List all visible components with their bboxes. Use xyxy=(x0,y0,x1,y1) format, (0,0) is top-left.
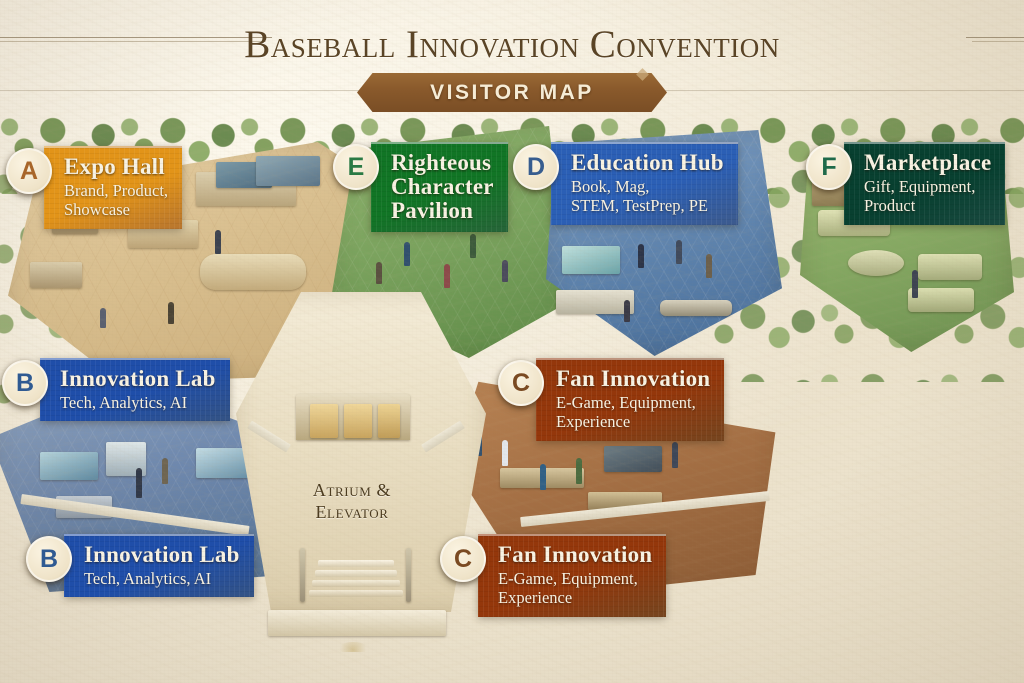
ribbon-rule-right xyxy=(636,90,1024,91)
visitor-figure xyxy=(912,270,918,298)
visitor-figure xyxy=(376,262,382,284)
visitor-figure xyxy=(136,468,142,498)
map-label-card: Righteous Character Pavilion xyxy=(371,142,508,232)
lab-display-screen xyxy=(40,452,98,480)
visitor-figure xyxy=(624,300,630,322)
expo-kiosk xyxy=(30,262,82,288)
map-label-subtitle: E-Game, Equipment, Experience xyxy=(556,393,710,432)
visitor-figure xyxy=(162,458,168,484)
visitor-figure xyxy=(676,240,682,264)
map-label-subtitle: E-Game, Equipment, Experience xyxy=(498,569,652,608)
education-treadmill xyxy=(660,300,732,316)
visitor-figure xyxy=(638,244,644,268)
map-badge-b-icon: B xyxy=(2,360,48,406)
atrium-elevator-label: Atrium & Elevator xyxy=(282,480,422,523)
map-label-name: Marketplace xyxy=(864,151,991,175)
map-badge-b-icon: B xyxy=(26,536,72,582)
visitor-figure xyxy=(215,230,221,254)
map-label-name: Expo Hall xyxy=(64,155,168,179)
ribbon-rule-left xyxy=(0,90,392,91)
atrium-lower-landing xyxy=(268,610,446,636)
map-header: Baseball Innovation Convention VISITOR M… xyxy=(0,0,1024,118)
atrium-stair-tread xyxy=(312,580,400,587)
fan-display-screen xyxy=(604,446,662,472)
map-label-name: Education Hub xyxy=(571,151,724,175)
map-label-card: MarketplaceGift, Equipment, Product xyxy=(844,142,1005,225)
map-label-fan-innovation[interactable]: CFan InnovationE-Game, Equipment, Experi… xyxy=(440,534,666,617)
visitor-figure xyxy=(168,302,174,324)
visitor-figure xyxy=(672,442,678,468)
map-label-card: Innovation LabTech, Analytics, AI xyxy=(64,534,254,597)
map-label-name: Innovation Lab xyxy=(84,543,240,567)
map-label-card: Expo HallBrand, Product, Showcase xyxy=(44,146,182,229)
visitor-figure xyxy=(502,260,508,282)
map-label-card: Fan InnovationE-Game, Equipment, Experie… xyxy=(478,534,666,617)
map-label-card: Innovation LabTech, Analytics, AI xyxy=(40,358,230,421)
visitor-figure xyxy=(470,234,476,258)
map-label-innovation-lab[interactable]: BInnovation LabTech, Analytics, AI xyxy=(2,358,230,421)
marketplace-sofa xyxy=(918,254,982,280)
map-label-card: Fan InnovationE-Game, Equipment, Experie… xyxy=(536,358,724,441)
visitor-figure xyxy=(404,242,410,266)
atrium-stair-tread xyxy=(318,560,394,567)
expo-display-screen xyxy=(256,156,320,186)
map-label-innovation-lab[interactable]: BInnovation LabTech, Analytics, AI xyxy=(26,534,254,597)
visitor-figure xyxy=(540,464,546,490)
map-label-subtitle: Book, Mag, STEM, TestPrep, PE xyxy=(571,177,724,216)
atrium-stair-tread xyxy=(309,590,403,597)
map-label-education-hub[interactable]: DEducation HubBook, Mag, STEM, TestPrep,… xyxy=(513,142,738,225)
atrium-stair-railing xyxy=(406,548,411,602)
map-label-subtitle: Brand, Product, Showcase xyxy=(64,181,168,220)
map-badge-c-icon: C xyxy=(498,360,544,406)
map-label-righteous-character-pavilion[interactable]: ERighteous Character Pavilion xyxy=(333,142,508,232)
education-bench xyxy=(556,290,634,314)
elevator-door xyxy=(344,404,372,438)
map-badge-a-icon: A xyxy=(6,148,52,194)
map-label-subtitle: Tech, Analytics, AI xyxy=(60,393,216,412)
map-label-name: Innovation Lab xyxy=(60,367,216,391)
visitor-map-ribbon-label: VISITOR MAP xyxy=(430,81,594,105)
visitor-figure xyxy=(444,264,450,288)
map-label-fan-innovation[interactable]: CFan InnovationE-Game, Equipment, Experi… xyxy=(498,358,724,441)
marketplace-round-table xyxy=(848,250,904,276)
visitor-figure xyxy=(100,308,106,328)
atrium-stair-railing xyxy=(300,548,305,602)
visitor-figure xyxy=(502,440,508,466)
education-display-screen xyxy=(562,246,620,274)
map-label-marketplace[interactable]: FMarketplaceGift, Equipment, Product xyxy=(806,142,1005,225)
map-label-name: Fan Innovation xyxy=(556,367,710,391)
expo-counter xyxy=(200,254,306,290)
map-label-expo-hall[interactable]: AExpo HallBrand, Product, Showcase xyxy=(6,146,182,229)
visitor-figure xyxy=(706,254,712,278)
map-label-subtitle: Gift, Equipment, Product xyxy=(864,177,991,216)
map-badge-c-icon: C xyxy=(440,536,486,582)
visitor-map-ribbon: VISITOR MAP xyxy=(357,73,667,112)
page-title: Baseball Innovation Convention xyxy=(0,22,1024,67)
elevator-door xyxy=(378,404,400,438)
map-badge-d-icon: D xyxy=(513,144,559,190)
atrium-floor-medallion xyxy=(336,642,370,652)
map-badge-f-icon: F xyxy=(806,144,852,190)
elevator-door xyxy=(310,404,338,438)
map-label-subtitle: Tech, Analytics, AI xyxy=(84,569,240,588)
map-badge-e-icon: E xyxy=(333,144,379,190)
map-label-card: Education HubBook, Mag, STEM, TestPrep, … xyxy=(551,142,738,225)
atrium-stair-tread xyxy=(315,570,397,577)
map-label-name: Fan Innovation xyxy=(498,543,652,567)
visitor-figure xyxy=(576,458,582,484)
visitor-map-page: Atrium & Elevator Baseball Innovation Co… xyxy=(0,0,1024,683)
map-label-name: Righteous Character Pavilion xyxy=(391,151,494,223)
